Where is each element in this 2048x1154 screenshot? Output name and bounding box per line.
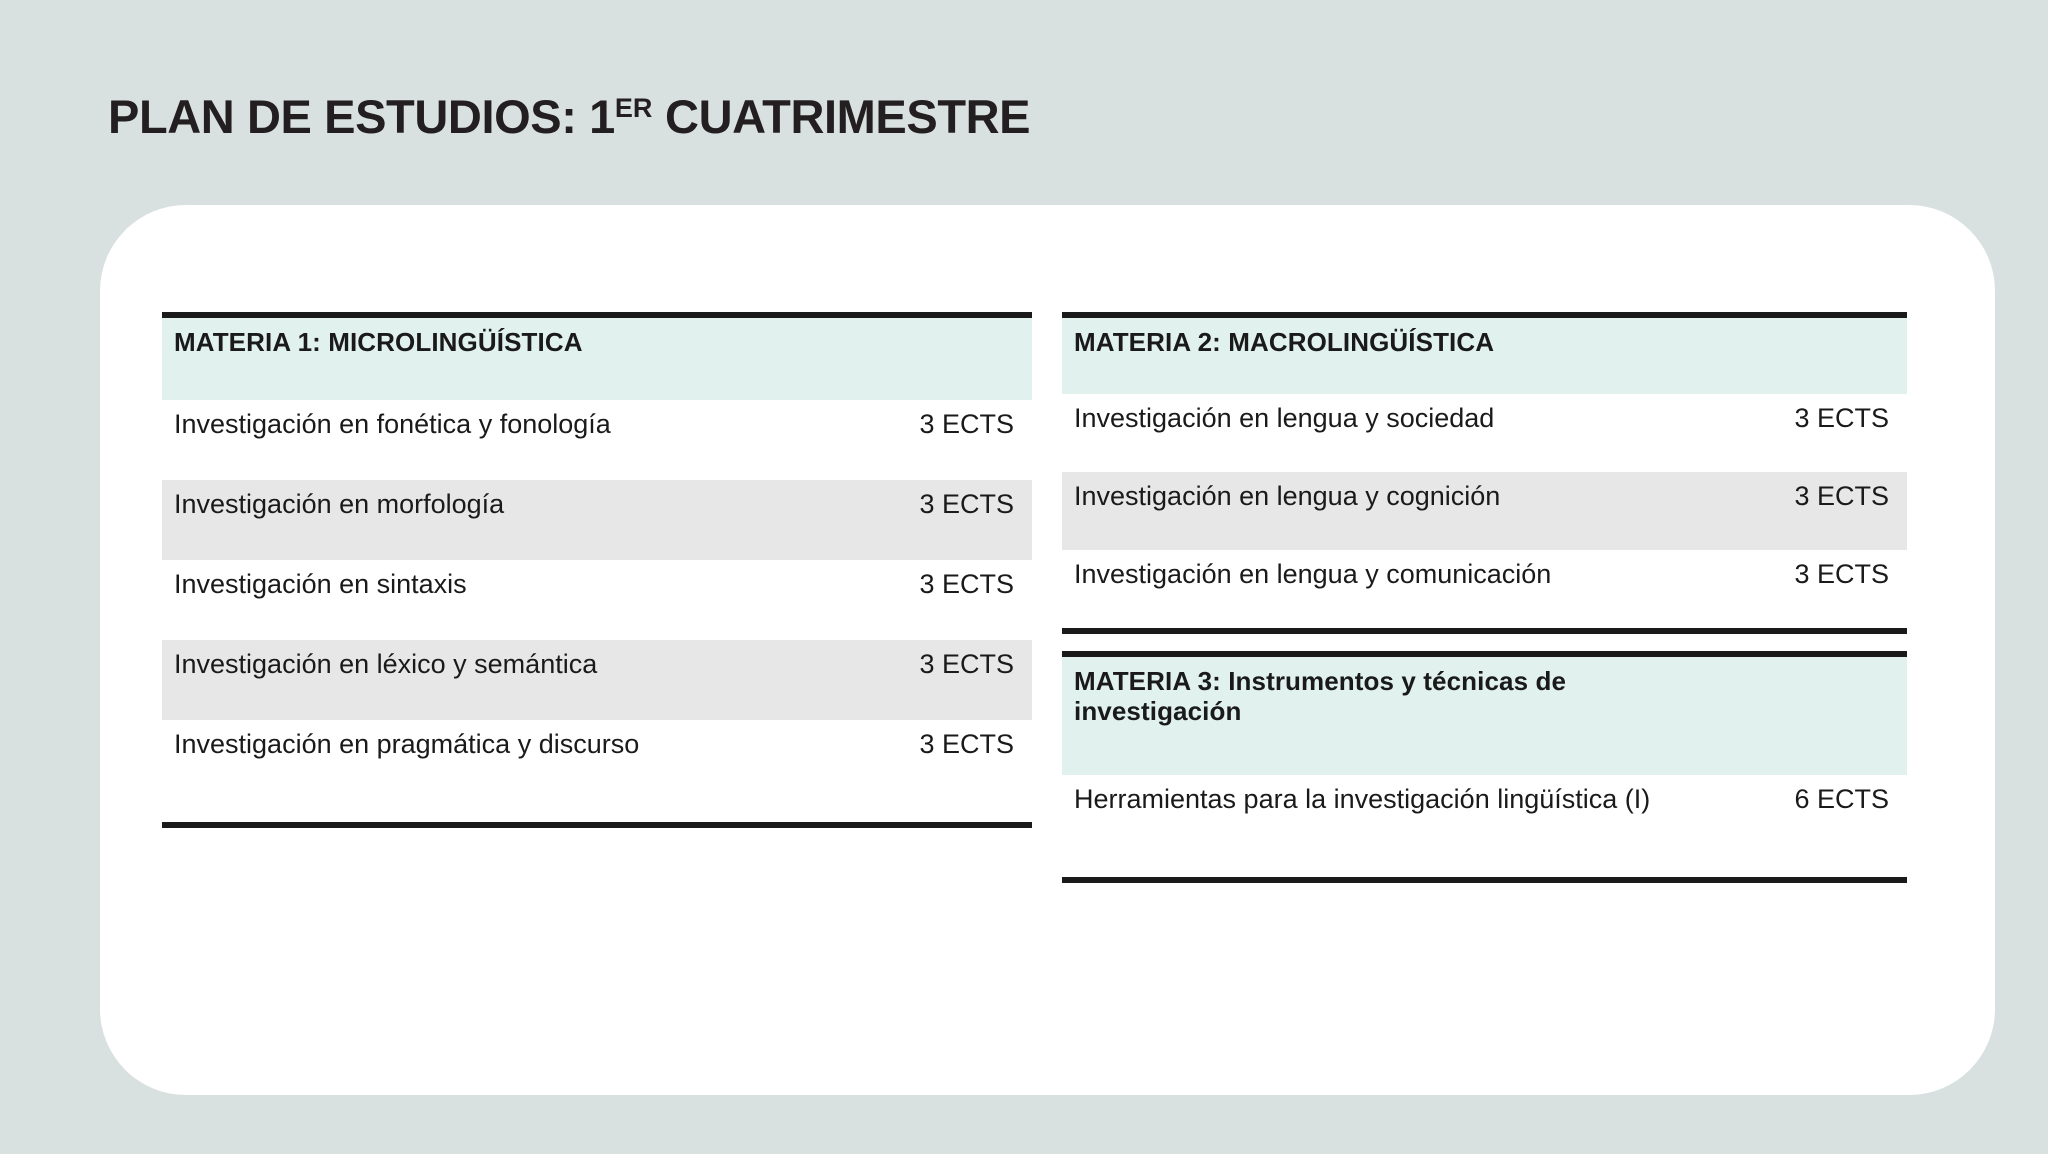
subject-credits: 3 ECTS: [854, 480, 1032, 521]
materia-1-table: MATERIA 1: MICROLINGÜÍSTICA Investigació…: [162, 312, 1032, 828]
subject-name: Herramientas para la investigación lingü…: [1062, 775, 1729, 816]
materia-header-credits: [1729, 318, 1907, 327]
materia-title: MATERIA 3: Instrumentos y técnicas de in…: [1062, 657, 1729, 727]
subject-credits: 3 ECTS: [854, 560, 1032, 601]
materia-header-credits: [854, 318, 1032, 327]
subject-credits: 3 ECTS: [854, 400, 1032, 441]
materia-2-table: MATERIA 2: MACROLINGÜÍSTICA Investigació…: [1062, 312, 1907, 634]
subject-credits: 3 ECTS: [1729, 550, 1907, 591]
right-column: MATERIA 2: MACROLINGÜÍSTICA Investigació…: [1062, 312, 1907, 883]
table-row: Investigación en pragmática y discurso 3…: [162, 720, 1032, 822]
table-row: Investigación en lengua y comunicación 3…: [1062, 550, 1907, 628]
subject-credits: 6 ECTS: [1729, 775, 1907, 816]
table-row: Investigación en morfología 3 ECTS: [162, 480, 1032, 560]
table-header-row: MATERIA 3: Instrumentos y técnicas de in…: [1062, 657, 1907, 775]
subject-name: Investigación en sintaxis: [162, 560, 854, 601]
materia-header-credits: [1729, 657, 1907, 666]
subject-credits: 3 ECTS: [854, 640, 1032, 681]
table-header-row: MATERIA 1: MICROLINGÜÍSTICA: [162, 318, 1032, 400]
table-row: Investigación en fonética y fonología 3 …: [162, 400, 1032, 480]
subject-credits: 3 ECTS: [854, 720, 1032, 761]
subject-name: Investigación en léxico y semántica: [162, 640, 854, 681]
subject-name: Investigación en lengua y cognición: [1062, 472, 1729, 513]
page-title-superscript: ER: [615, 93, 653, 123]
table-header-row: MATERIA 2: MACROLINGÜÍSTICA: [1062, 318, 1907, 394]
subject-name: Investigación en fonética y fonología: [162, 400, 854, 441]
subject-name: Investigación en lengua y comunicación: [1062, 550, 1729, 591]
table-row: Investigación en sintaxis 3 ECTS: [162, 560, 1032, 640]
page-title-lead: PLAN DE ESTUDIOS: 1: [108, 90, 615, 143]
materia-3-table: MATERIA 3: Instrumentos y técnicas de in…: [1062, 651, 1907, 883]
table-row: Herramientas para la investigación lingü…: [1062, 775, 1907, 877]
subject-credits: 3 ECTS: [1729, 394, 1907, 435]
page-title: PLAN DE ESTUDIOS: 1ER CUATRIMESTRE: [108, 89, 1030, 144]
table-row: Investigación en lengua y cognición 3 EC…: [1062, 472, 1907, 550]
curriculum-columns: MATERIA 1: MICROLINGÜÍSTICA Investigació…: [162, 312, 1937, 883]
subject-name: Investigación en morfología: [162, 480, 854, 521]
page-title-trail: CUATRIMESTRE: [652, 90, 1030, 143]
table-row: Investigación en léxico y semántica 3 EC…: [162, 640, 1032, 720]
left-column: MATERIA 1: MICROLINGÜÍSTICA Investigació…: [162, 312, 1032, 883]
table-row: Investigación en lengua y sociedad 3 ECT…: [1062, 394, 1907, 472]
materia-title: MATERIA 1: MICROLINGÜÍSTICA: [162, 318, 854, 357]
subject-credits: 3 ECTS: [1729, 472, 1907, 513]
content-card: MATERIA 1: MICROLINGÜÍSTICA Investigació…: [100, 205, 1995, 1095]
subject-name: Investigación en lengua y sociedad: [1062, 394, 1729, 435]
subject-name: Investigación en pragmática y discurso: [162, 720, 854, 761]
materia-title: MATERIA 2: MACROLINGÜÍSTICA: [1062, 318, 1729, 357]
